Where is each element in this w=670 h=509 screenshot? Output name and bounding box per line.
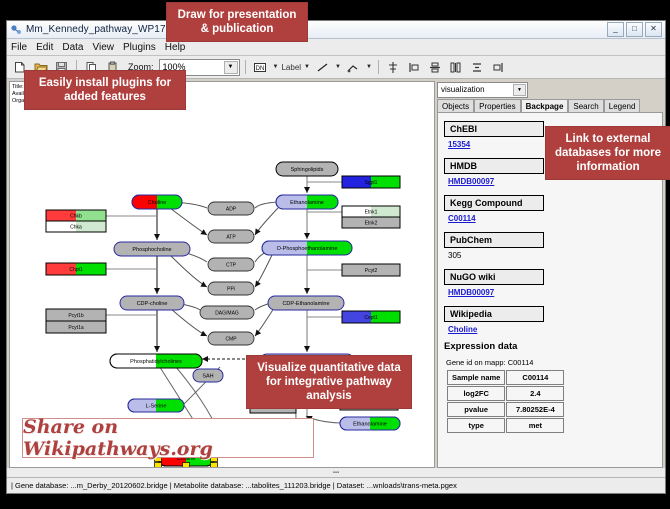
callout-visualize: Visualize quantitative data for integrat…	[246, 355, 412, 409]
interaction-tool-icon[interactable]	[344, 58, 363, 77]
expression-data-title: Expression data	[444, 341, 657, 352]
datanode-icon[interactable]: DN	[251, 58, 270, 77]
visualization-combo[interactable]: visualization ▼	[437, 82, 528, 98]
horizontal-scrollbar[interactable]: ▪▪▪	[7, 468, 665, 477]
chevron-down-icon[interactable]: ▼	[224, 61, 238, 74]
cofactor-node-adp[interactable]: ADP	[208, 202, 254, 215]
visualization-row: visualization ▼	[437, 81, 663, 98]
metabolite-node-phosphatidylcholines[interactable]: Phosphatidylcholines	[110, 354, 202, 368]
gene-node-pcyt2[interactable]: Pcyt2	[342, 264, 400, 276]
metabolite-node-phosphocholine[interactable]: Phosphocholine	[114, 242, 190, 256]
node-label: Pcyt1a	[68, 325, 84, 331]
toolbar-separator-2	[245, 60, 246, 74]
metabolite-node-o-phosphoethanolamine[interactable]: O-Phosphoethanolamine	[262, 241, 352, 255]
metabolite-node-choline-top[interactable]: Choline	[132, 195, 182, 209]
metabolite-node-sam[interactable]: SAH	[193, 369, 223, 382]
selection-handle[interactable]	[155, 463, 162, 469]
align-right-icon[interactable]	[489, 58, 508, 77]
menu-item-plugins[interactable]: Plugins	[123, 42, 156, 53]
tab-objects[interactable]: Objects	[437, 99, 474, 112]
metabolite-node-ethanolamine-right[interactable]: Ethanolamine	[340, 417, 400, 430]
callout-plugins: Easily install plugins for added feature…	[24, 70, 186, 110]
backpage-field-kegg-compound: Kegg Compound	[444, 195, 544, 211]
line-tool-icon[interactable]	[313, 58, 332, 77]
expression-row: typemet	[447, 418, 564, 433]
line-dropdown-icon[interactable]: ▼	[335, 64, 341, 70]
selection-handle[interactable]	[183, 463, 190, 469]
node-label: CDP-Ethanolamine	[282, 301, 329, 307]
chevron-down-icon[interactable]: ▼	[513, 84, 526, 96]
callout-links: Link to external databases for more info…	[545, 126, 670, 180]
callout-draw: Draw for presentation & publication	[166, 2, 308, 42]
node-label: Etnk2	[365, 220, 378, 226]
expression-key: type	[447, 418, 505, 433]
node-label: Sgpl1	[365, 180, 378, 186]
svg-text:DN: DN	[256, 66, 265, 72]
node-label: Cept1	[364, 315, 378, 321]
share-text: Share on Wikipathways.org	[23, 416, 313, 460]
pathway-diagram[interactable]: SphingolipidsEthanolamineO-Phosphoethano…	[10, 82, 434, 468]
label-dropdown-icon[interactable]: ▼	[304, 64, 310, 70]
metabolite-node-cdp-ethanolamine[interactable]: CDP-Ethanolamine	[268, 296, 344, 310]
node-label: Sphingolipids	[291, 167, 324, 173]
metabolite-node-cdp-choline[interactable]: CDP-choline	[120, 296, 184, 310]
backpage-field-pubchem: PubChem	[444, 232, 544, 248]
node-label: Phosphocholine	[132, 247, 171, 253]
interaction-dropdown-icon[interactable]: ▼	[366, 64, 372, 70]
expression-row: pvalue7.80252E-4	[447, 402, 564, 417]
node-label: Ethanolamine	[290, 200, 324, 206]
expression-table: Sample nameC00114log2FC2.4pvalue7.80252E…	[446, 369, 565, 434]
menu-item-edit[interactable]: Edit	[36, 42, 53, 53]
backpage-link-wikipedia[interactable]: Choline	[448, 325, 657, 334]
cofactor-node-atp[interactable]: ATP	[208, 230, 254, 243]
node-label: Choline	[148, 200, 167, 206]
callout-share: Share on Wikipathways.org	[22, 418, 314, 458]
side-panel-tabs: Objects Properties Backpage Search Legen…	[437, 98, 663, 112]
align-center-icon[interactable]	[384, 58, 403, 77]
node-label: Ethanolamine	[353, 421, 387, 427]
node-label: Phosphatidylcholines	[130, 359, 182, 365]
node-label: DAG/MAG	[215, 310, 239, 316]
cofactor-node-ctp[interactable]: CTP	[208, 258, 254, 271]
node-label: Etnk1	[365, 209, 378, 215]
expression-key: log2FC	[447, 386, 505, 401]
pathway-canvas[interactable]: Title: Availa Organi	[9, 81, 435, 468]
node-label: L-Serine	[146, 403, 167, 409]
metabolite-node-sphingolipids[interactable]: Sphingolipids	[276, 162, 338, 176]
node-label: CMP	[225, 336, 237, 342]
gene-node-cept1[interactable]: Cept1	[342, 311, 400, 323]
node-label: CTP	[226, 262, 237, 268]
expression-value: met	[506, 418, 564, 433]
minimize-button[interactable]: _	[607, 22, 624, 37]
title-bar: Mm_Kennedy_pathway_WP1771_45176.gpml _ □…	[7, 21, 665, 39]
node-label: SAH	[202, 373, 213, 379]
menu-item-file[interactable]: File	[11, 42, 27, 53]
node-label: ADP	[226, 206, 237, 212]
gene-node-sgpl1[interactable]: Sgpl1	[342, 176, 400, 188]
metabolite-node-l-serine-left[interactable]: L-Serine	[128, 399, 184, 412]
cofactor-node-ppi[interactable]: PPi	[208, 282, 254, 295]
node-label: Pcyt2	[365, 268, 378, 274]
node-label: Chka	[70, 224, 82, 230]
toolbar-separator-3	[378, 60, 379, 74]
gene-node-chkb[interactable]: Chkb	[46, 210, 106, 221]
datanode-dropdown-icon[interactable]: ▼	[273, 64, 279, 70]
backpage-link-nugo-wiki[interactable]: HMDB00097	[448, 288, 657, 297]
distribute-horizontal-icon[interactable]	[447, 58, 466, 77]
cofactor-node-dagmag[interactable]: DAG/MAG	[200, 306, 254, 319]
gene-node-etnk2[interactable]: Etnk2	[342, 217, 400, 228]
stack-icon[interactable]	[468, 58, 487, 77]
expression-value: C00114	[506, 370, 564, 385]
node-label: CDP-choline	[137, 301, 168, 307]
menu-item-help[interactable]: Help	[165, 42, 186, 53]
maximize-button[interactable]: □	[626, 22, 643, 37]
tab-search[interactable]: Search	[568, 99, 603, 112]
status-bar: | Gene database: ...m_Derby_20120602.bri…	[7, 477, 665, 493]
menu-item-view[interactable]: View	[92, 42, 114, 53]
gene-node-chpt1[interactable]: Chpt1	[46, 263, 106, 275]
backpage-field-hmdb: HMDB	[444, 158, 544, 174]
backpage-field-wikipedia: Wikipedia	[444, 306, 544, 322]
metabolite-node-ethanolamine[interactable]: Ethanolamine	[276, 195, 338, 209]
node-label: Chkb	[70, 213, 82, 219]
menu-item-data[interactable]: Data	[62, 42, 83, 53]
expression-value: 7.80252E-4	[506, 402, 564, 417]
node-label: O-Phosphoethanolamine	[277, 246, 338, 252]
backpage-field-nugo-wiki: NuGO wiki	[444, 269, 544, 285]
backpage-value-pubchem: 305	[448, 251, 657, 260]
node-label: ATP	[226, 234, 236, 240]
tab-properties[interactable]: Properties	[474, 99, 520, 112]
pathvisio-icon	[10, 24, 22, 36]
visualization-value: visualization	[441, 85, 485, 94]
node-label: Pcyt1b	[68, 313, 84, 319]
node-label: Chpt1	[69, 267, 83, 273]
backpage-link-kegg-compound[interactable]: C00114	[448, 214, 657, 223]
gene-node-pcyt1b[interactable]: Pcyt1b	[46, 309, 106, 321]
gene-id-line: Gene id on mapp: C00114	[446, 358, 657, 367]
expression-row: log2FC2.4	[447, 386, 564, 401]
gene-node-chka[interactable]: Chka	[46, 221, 106, 232]
tab-backpage[interactable]: Backpage	[521, 99, 569, 112]
expression-key: pvalue	[447, 402, 505, 417]
expression-value: 2.4	[506, 386, 564, 401]
node-label: PPi	[227, 286, 235, 292]
align-middle-icon[interactable]	[426, 58, 445, 77]
window-controls: _ □ ✕	[607, 22, 662, 37]
expression-key: Sample name	[447, 370, 505, 385]
selection-handle[interactable]	[211, 463, 218, 469]
tab-legend[interactable]: Legend	[604, 99, 641, 112]
close-button[interactable]: ✕	[645, 22, 662, 37]
gene-node-etnk1[interactable]: Etnk1	[342, 206, 400, 217]
status-text: | Gene database: ...m_Derby_20120602.bri…	[11, 481, 457, 490]
expression-row: Sample nameC00114	[447, 370, 564, 385]
backpage-field-chebi: ChEBI	[444, 121, 544, 137]
menu-bar: File Edit Data View Plugins Help	[7, 39, 665, 56]
cofactor-node-cmp[interactable]: CMP	[208, 332, 254, 345]
align-left-icon[interactable]	[405, 58, 424, 77]
label-tool[interactable]: Label	[281, 63, 301, 72]
gene-node-pcyt1a[interactable]: Pcyt1a	[46, 321, 106, 333]
